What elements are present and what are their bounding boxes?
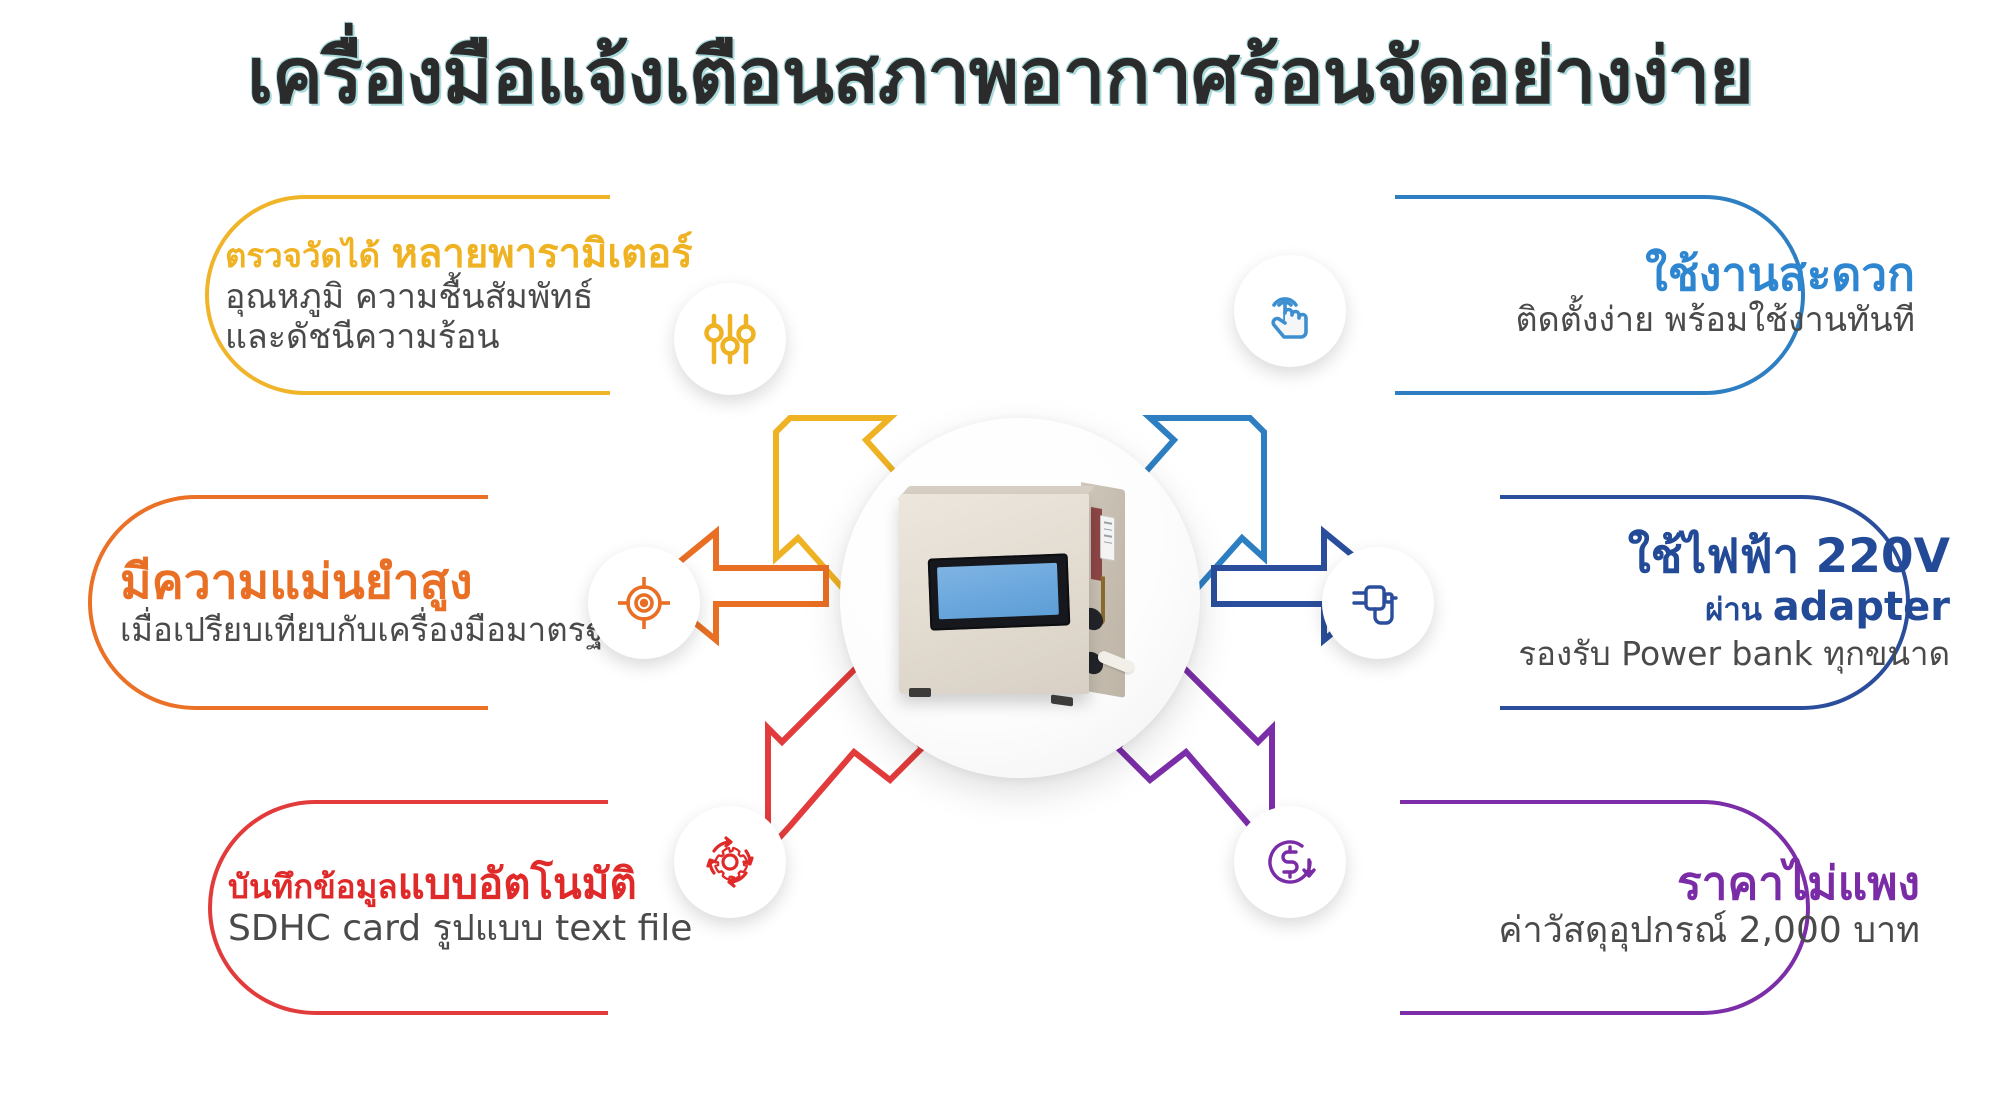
card-sub-auto-logging: SDHC card รูปแบบ text file	[228, 907, 692, 950]
card-sub-low-price: ค่าวัสดุอุปกรณ์ 2,000 บาท	[1498, 909, 1920, 952]
headline-bold-text: หลายพารามิเตอร์	[392, 231, 693, 277]
device-screen-bezel	[928, 553, 1071, 630]
card-sub-power-supply: รองรับ Power bank ทุกขนาด	[1518, 634, 1950, 674]
card-headline-power-supply: ใช้ไฟฟ้า 220V	[1628, 531, 1950, 584]
card-headline-easy-to-use: ใช้งานสะดวก	[1645, 249, 1915, 301]
device-lcd-screen	[937, 563, 1059, 620]
card-sub-line2-multi-parameter: และดัชนีความร้อน	[225, 317, 500, 358]
target-icon	[612, 571, 676, 635]
device-photo	[895, 480, 1145, 715]
headline-light-text: ตรวจวัดได้	[225, 236, 392, 275]
icon-bubble-auto-logging[interactable]	[674, 806, 786, 918]
icon-bubble-high-accuracy[interactable]	[588, 547, 700, 659]
device-foot-left	[909, 688, 931, 697]
device-foot-right	[1051, 694, 1073, 706]
card-sub-high-accuracy: เมื่อเปรียบเทียบกับเครื่องมือมาตรฐาน	[120, 610, 645, 650]
card-headline-high-accuracy: มีความแม่นยำสูง	[120, 556, 473, 610]
card-headline-low-price: ราคาไม่แพง	[1677, 858, 1920, 910]
icon-bubble-easy-to-use[interactable]	[1234, 255, 1346, 367]
card-multi-parameter[interactable]: ตรวจวัดได้ หลายพารามิเตอร์ อุณหภูมิ ความ…	[225, 215, 745, 375]
device-sd-slot	[1100, 515, 1115, 562]
headline2-light-text: ผ่าน	[1705, 592, 1773, 628]
tap-hand-icon	[1258, 279, 1322, 343]
gear-refresh-icon	[696, 828, 764, 896]
card-headline2-power-supply: ผ่าน adapter	[1705, 584, 1950, 634]
icon-bubble-power-supply[interactable]	[1322, 547, 1434, 659]
headline2-bold-text: adapter	[1773, 584, 1950, 630]
card-headline-multi-parameter: ตรวจวัดได้ หลายพารามิเตอร์	[225, 232, 693, 277]
card-sub-line1-multi-parameter: อุณหภูมิ ความชื้นสัมพัทธ์	[225, 277, 593, 318]
device-front-panel	[899, 494, 1089, 694]
infographic-canvas: เครื่องมือแจ้งเตือนสภาพอากาศร้อนจัดอย่าง…	[0, 0, 2000, 1111]
headline-light-text: บันทึกข้อมูล	[228, 867, 398, 906]
card-sub-easy-to-use: ติดตั้งง่าย พร้อมใช้งานทันที	[1516, 300, 1915, 341]
icon-bubble-multi-parameter[interactable]	[674, 283, 786, 395]
icon-bubble-low-price[interactable]	[1234, 806, 1346, 918]
card-power-supply[interactable]: ใช้ไฟฟ้า 220V ผ่าน adapter รองรับ Power …	[1350, 510, 1950, 695]
card-low-price[interactable]: ราคาไม่แพง ค่าวัสดุอุปกรณ์ 2,000 บาท	[1390, 830, 1920, 980]
power-adapter-icon	[1346, 571, 1410, 635]
card-easy-to-use[interactable]: ใช้งานสะดวก ติดตั้งง่าย พร้อมใช้งานทันที	[1395, 215, 1915, 375]
card-headline-auto-logging: บันทึกข้อมูลแบบอัตโนมัติ	[228, 860, 637, 907]
headline-bold-text: แบบอัตโนมัติ	[398, 859, 637, 908]
sliders-icon	[699, 308, 761, 370]
dollar-down-icon	[1258, 830, 1322, 894]
